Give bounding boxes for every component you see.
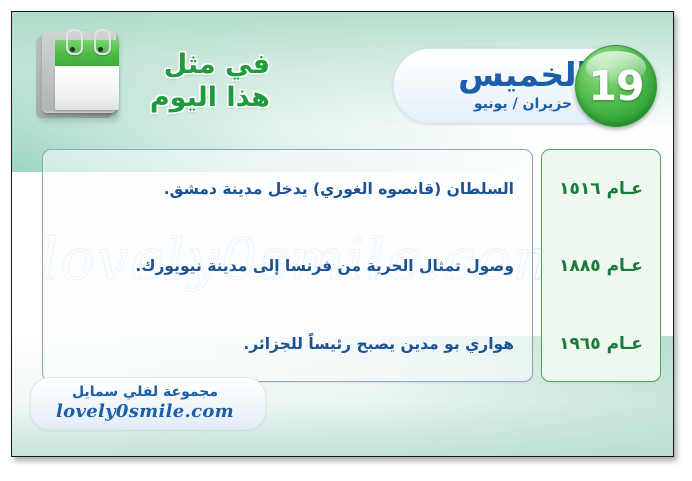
day-number-badge: 19 [575,45,657,127]
years-panel: عـام ١٥١٦ عـام ١٨٨٥ عـام ١٩٦٥ [541,149,661,382]
calendar-icon-page [55,66,119,110]
footer-brand-badge[interactable]: مجموعة لفلي سمايل lovely0smile.com [30,377,266,430]
year-row: عـام ١٩٦٥ [542,305,660,382]
footer-website-link[interactable]: lovely0smile.com [47,401,243,422]
card-header: في مثل هذا اليوم الخميس حزيران / يونيو 1… [12,12,673,147]
event-row: وصول تمثال الحرية من فرنسا إلى مدينة نيو… [43,228,532,306]
event-row: هواري بو مدين يصبح رئيساً للجزائر. [43,305,532,382]
event-description: هواري بو مدين يصبح رئيساً للجزائر. [243,333,514,355]
card-inner-border: lovely0smile.com في مثل هذا اليوم [11,11,674,457]
event-row: السلطان (قانصوه الغوري) يدخل مدينة دمشق. [43,150,532,228]
calendar-icon-ring-right [94,29,111,55]
calendar-icon [34,27,126,125]
calendar-icon-hole-left [70,47,75,52]
calendar-icon-ring-left [66,29,83,55]
page-title: في مثل هذا اليوم [130,48,270,114]
event-year: عـام ١٨٨٥ [559,256,643,276]
event-description: السلطان (قانصوه الغوري) يدخل مدينة دمشق. [164,178,514,200]
page-title-line-1: في مثل [130,48,270,81]
page-title-line-2: هذا اليوم [130,81,270,114]
calendar-card: lovely0smile.com في مثل هذا اليوم [0,0,692,481]
day-number-label: 19 [576,46,656,126]
calendar-icon-body [42,31,116,113]
events-panel: السلطان (قانصوه الغوري) يدخل مدينة دمشق.… [42,149,533,382]
event-year: عـام ١٩٦٥ [559,334,643,354]
event-year: عـام ١٥١٦ [559,179,643,199]
calendar-icon-hole-right [98,47,103,52]
year-row: عـام ١٥١٦ [542,150,660,228]
year-row: عـام ١٨٨٥ [542,228,660,306]
event-description: وصول تمثال الحرية من فرنسا إلى مدينة نيو… [135,255,514,277]
footer-brand-arabic: مجموعة لفلي سمايل [47,383,243,401]
